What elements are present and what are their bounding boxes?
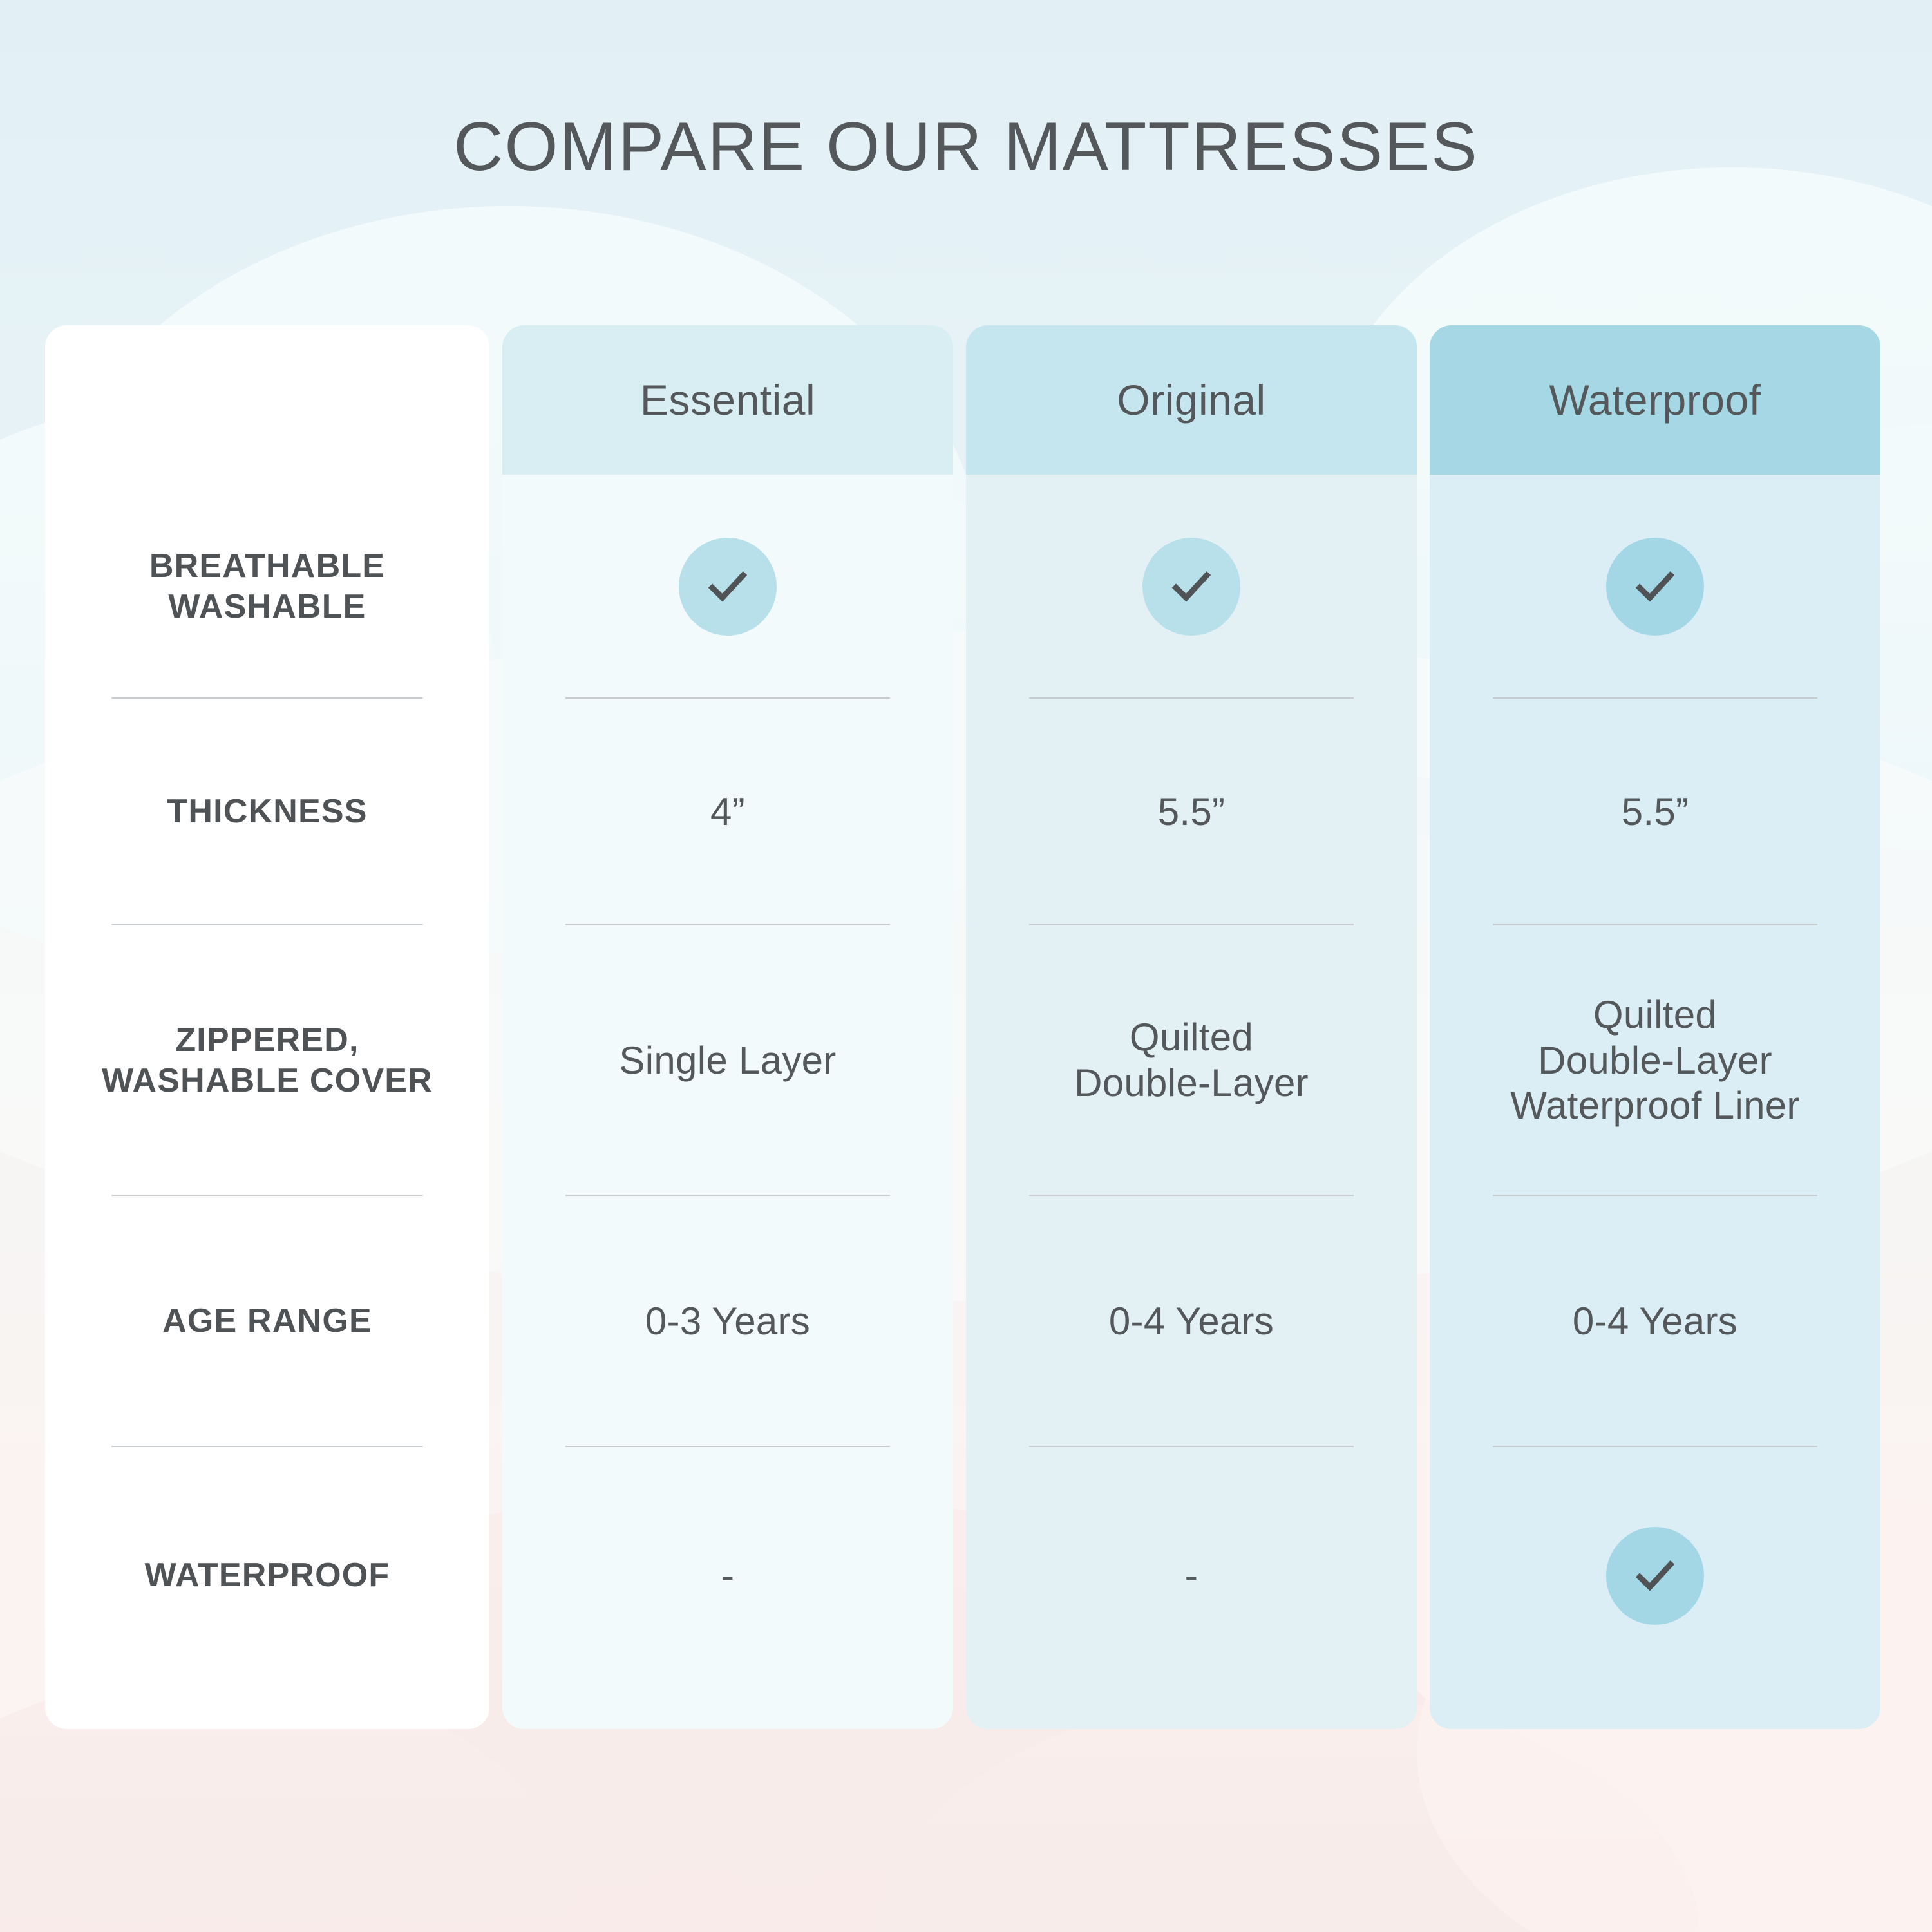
feature-label-line1: THICKNESS [167, 791, 367, 832]
cell-waterproof-thickness: 5.5” [1430, 699, 1880, 925]
cell-waterproof-waterproof [1430, 1447, 1880, 1705]
feature-label-line1: WATERPROOF [145, 1555, 390, 1596]
cell-value: Single Layer [619, 1038, 836, 1084]
cell-waterproof-breathable-washable [1430, 475, 1880, 699]
cell-essential-waterproof: - [502, 1447, 953, 1705]
feature-label-line1: AGE RANGE [162, 1301, 372, 1341]
cell-value: 0-3 Years [645, 1299, 810, 1345]
column-essential[interactable]: Essential 4” Single Layer 0-3 Years - [502, 325, 953, 1729]
cell-value: QuiltedDouble-Layer [1074, 1015, 1309, 1106]
cell-essential-age-range: 0-3 Years [502, 1196, 953, 1447]
page-title: COMPARE OUR MATTRESSES [0, 106, 1932, 186]
cell-waterproof-cover: QuiltedDouble-LayerWaterproof Liner [1430, 925, 1880, 1196]
feature-label-cell-zippered-washable-cover: ZIPPERED, WASHABLE COVER [45, 925, 489, 1196]
check-icon [1606, 538, 1704, 636]
column-header-original: Original [966, 325, 1417, 475]
check-icon [1606, 1527, 1704, 1625]
cell-essential-breathable-washable [502, 475, 953, 699]
feature-label-cell-thickness: THICKNESS [45, 699, 489, 925]
cell-value: 5.5” [1158, 790, 1226, 835]
check-icon [1142, 538, 1240, 636]
column-header-labels [45, 325, 489, 475]
cell-value: 4” [710, 790, 745, 835]
comparison-table: BREATHABLE WASHABLE THICKNESS ZIPPERED, … [45, 325, 1887, 1729]
cell-waterproof-age-range: 0-4 Years [1430, 1196, 1880, 1447]
cell-essential-thickness: 4” [502, 699, 953, 925]
column-feature-labels: BREATHABLE WASHABLE THICKNESS ZIPPERED, … [45, 325, 489, 1729]
cell-original-thickness: 5.5” [966, 699, 1417, 925]
feature-label-line1: ZIPPERED, [102, 1020, 433, 1061]
column-header-waterproof: Waterproof [1430, 325, 1880, 475]
cell-original-breathable-washable [966, 475, 1417, 699]
check-icon [679, 538, 777, 636]
feature-label-line2: WASHABLE COVER [102, 1061, 433, 1101]
feature-label-cell-waterproof: WATERPROOF [45, 1447, 489, 1705]
feature-label-line1: BREATHABLE [149, 546, 385, 587]
cell-value: 0-4 Years [1573, 1299, 1738, 1345]
cell-original-cover: QuiltedDouble-Layer [966, 925, 1417, 1196]
column-waterproof[interactable]: Waterproof 5.5” QuiltedDouble-LayerWater… [1430, 325, 1880, 1729]
cell-value: 0-4 Years [1109, 1299, 1274, 1345]
feature-label-cell-age-range: AGE RANGE [45, 1196, 489, 1447]
column-header-essential: Essential [502, 325, 953, 475]
cell-value: - [721, 1552, 735, 1599]
feature-label-line2: WASHABLE [149, 587, 385, 627]
feature-label-cell-breathable-washable: BREATHABLE WASHABLE [45, 475, 489, 699]
cell-value: 5.5” [1622, 790, 1689, 835]
column-original[interactable]: Original 5.5” QuiltedDouble-Layer 0-4 Ye… [966, 325, 1417, 1729]
cell-original-waterproof: - [966, 1447, 1417, 1705]
cell-value: - [1185, 1552, 1198, 1599]
cell-value: QuiltedDouble-LayerWaterproof Liner [1510, 992, 1799, 1129]
cell-essential-cover: Single Layer [502, 925, 953, 1196]
cell-original-age-range: 0-4 Years [966, 1196, 1417, 1447]
